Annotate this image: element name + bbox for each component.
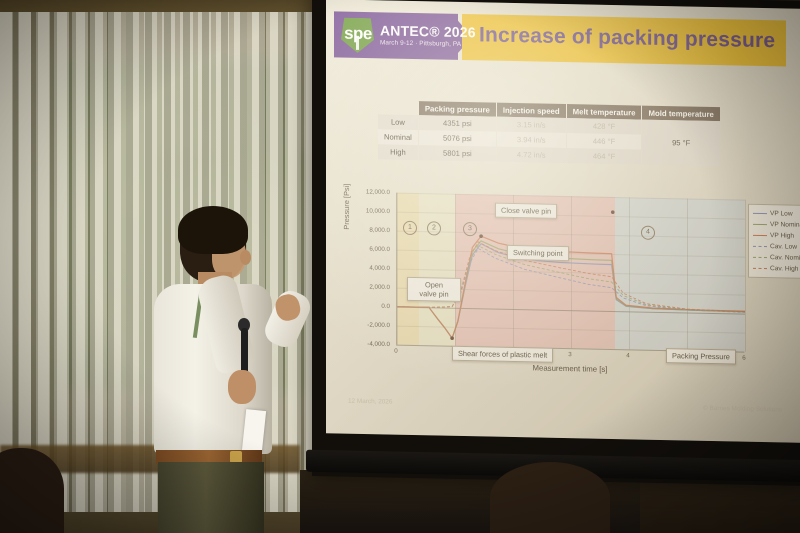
row-label-low: Low — [378, 114, 418, 130]
legend-label: VP Nominal — [770, 221, 800, 229]
chart-y-tick: -2,000.0 — [367, 322, 390, 329]
cell-low-speed: 3.15 in/s — [496, 117, 566, 133]
cell-high-packing: 5801 psi — [418, 145, 496, 162]
presenter-trousers — [158, 462, 264, 533]
col-melt-temperature: Melt temperature — [566, 104, 642, 120]
chart-y-tick: -4,000.0 — [367, 341, 390, 348]
chart-x-tick: 6 — [742, 355, 745, 362]
legend-label: Cav. High — [770, 265, 798, 273]
callout-switching-point: Switching point — [507, 245, 569, 261]
antec-title: ANTEC® 2026 — [380, 22, 476, 40]
callout-close-valve-pin: Close valve pin — [495, 203, 557, 219]
projection-screen: spe ANTEC® 2026 March 9-12 · Pittsburgh,… — [326, 0, 800, 443]
cell-high-speed: 4.72 in/s — [496, 147, 566, 163]
chart-marker-open-valve-pin — [450, 336, 454, 340]
cell-low-packing: 4351 psi — [418, 115, 496, 132]
chart-y-axis-label: Pressure [Psi] — [342, 216, 351, 230]
chart-y-ticks: -4,000.0-2,000.00.02,000.04,000.06,000.0… — [352, 192, 394, 345]
cell-high-melt: 464 °F — [566, 148, 642, 165]
col-mold-temperature: Mold temperature — [642, 106, 720, 122]
chart-y-tick: 4,000.0 — [369, 265, 390, 272]
photo-scene: spe ANTEC® 2026 March 9-12 · Pittsburgh,… — [0, 0, 800, 533]
legend-swatch — [753, 268, 767, 269]
chart-plot-area: 1 2 3 4 Close valve pin Switching point … — [396, 193, 745, 352]
cell-mold-temperature: 95 °F — [642, 120, 720, 167]
row-label-nominal: Nominal — [378, 129, 418, 145]
phase-marker-4: 4 — [641, 226, 655, 240]
col-injection-speed: Injection speed — [496, 103, 566, 118]
chart-x-tick: 4 — [626, 352, 629, 359]
presenter — [150, 210, 280, 533]
legend-item: Cav. High — [753, 263, 800, 275]
pressure-chart: Pressure [Psi] -4,000.0-2,000.00.02,000.… — [344, 192, 784, 393]
cell-nominal-melt: 446 °F — [566, 133, 642, 150]
phase-marker-2: 2 — [427, 221, 441, 235]
chart-y-tick: 8,000.0 — [369, 227, 390, 234]
presenter-hair — [178, 206, 248, 254]
phase-marker-1: 1 — [403, 221, 417, 235]
chart-y-tick: 10,000.0 — [366, 208, 390, 215]
chart-y-tick: 2,000.0 — [369, 284, 390, 291]
row-label-high: High — [378, 144, 418, 160]
spe-logo-text: spe — [342, 23, 374, 46]
chart-y-tick: 6,000.0 — [369, 246, 390, 253]
chart-x-tick: 0 — [394, 348, 397, 355]
phase-marker-3: 3 — [463, 222, 477, 236]
legend-label: VP High — [770, 232, 794, 239]
presenter-ear — [240, 250, 251, 265]
slide-title-bar: spe ANTEC® 2026 March 9-12 · Pittsburgh,… — [334, 11, 786, 66]
legend-swatch — [753, 246, 767, 247]
legend-swatch — [753, 213, 767, 214]
chart-x-tick: 3 — [568, 351, 571, 358]
chart-y-tick: 0.0 — [381, 303, 390, 310]
presenter-hand-holding-mic — [228, 370, 256, 404]
callout-open-valve-pin: Openvalve pin — [407, 277, 461, 302]
callout-packing-pressure: Packing Pressure — [666, 348, 736, 364]
legend-swatch — [753, 235, 767, 236]
chart-y-tick: 12,000.0 — [366, 189, 390, 196]
callout-shear-forces: Shear forces of plastic melt — [452, 346, 553, 363]
legend-swatch — [753, 257, 767, 258]
legend-label: Cav. Low — [770, 243, 797, 251]
slide-footer-date: 12 March, 2026 — [348, 398, 392, 406]
legend-label: Cav. Nominal — [770, 254, 800, 262]
slide-footer-copyright: © Barnes Molding Solutions — [703, 405, 782, 414]
chart-series-lines — [397, 193, 745, 352]
cell-nominal-speed: 3.94 in/s — [496, 132, 566, 148]
cell-nominal-packing: 5076 psi — [418, 130, 496, 147]
chart-marker-close-valve-pin — [611, 210, 615, 214]
legend-label: VP Low — [770, 210, 793, 217]
chart-legend: VP LowVP NominalVP HighCav. LowCav. Nomi… — [748, 204, 800, 280]
chart-gridline-v — [745, 200, 746, 352]
parameter-table: Packing pressure Injection speed Melt te… — [378, 100, 720, 166]
cell-low-melt: 428 °F — [566, 118, 642, 135]
col-packing-pressure: Packing pressure — [418, 101, 496, 117]
audience-head-right — [490, 462, 610, 533]
table-corner-cell — [378, 100, 418, 115]
slide: spe ANTEC® 2026 March 9-12 · Pittsburgh,… — [326, 0, 800, 443]
legend-swatch — [753, 224, 767, 225]
